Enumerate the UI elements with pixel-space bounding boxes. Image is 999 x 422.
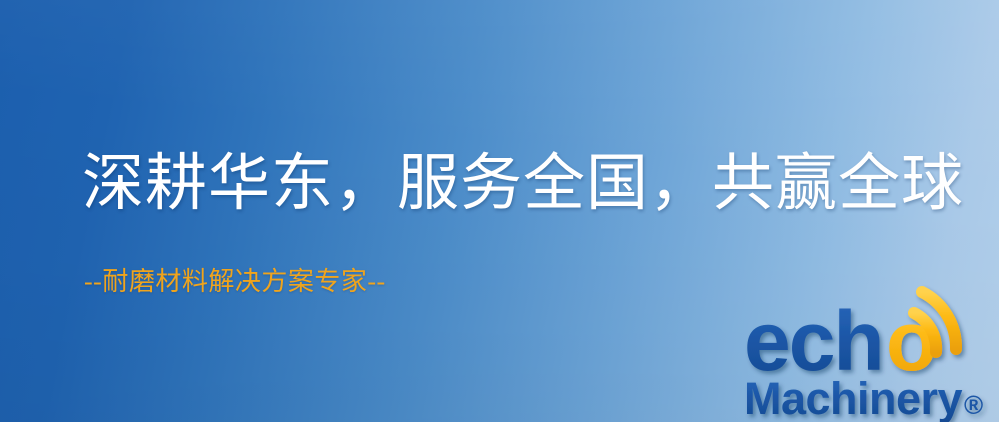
subtitle-tagline: --耐磨材料解决方案专家-- [84,266,386,297]
logo-registered-trademark-icon: ® [964,390,983,420]
headline-slogan: 深耕华东，服务全国，共赢全球 [82,152,964,218]
logo-machinery-text: Machinery [744,373,963,422]
echo-machinery-logo: ech o Machinery ® [742,296,998,422]
logo-wordmark-group: ech o Machinery ® [744,292,983,422]
promo-banner: 深耕华东，服务全国，共赢全球 --耐磨材料解决方案专家-- [0,0,999,422]
